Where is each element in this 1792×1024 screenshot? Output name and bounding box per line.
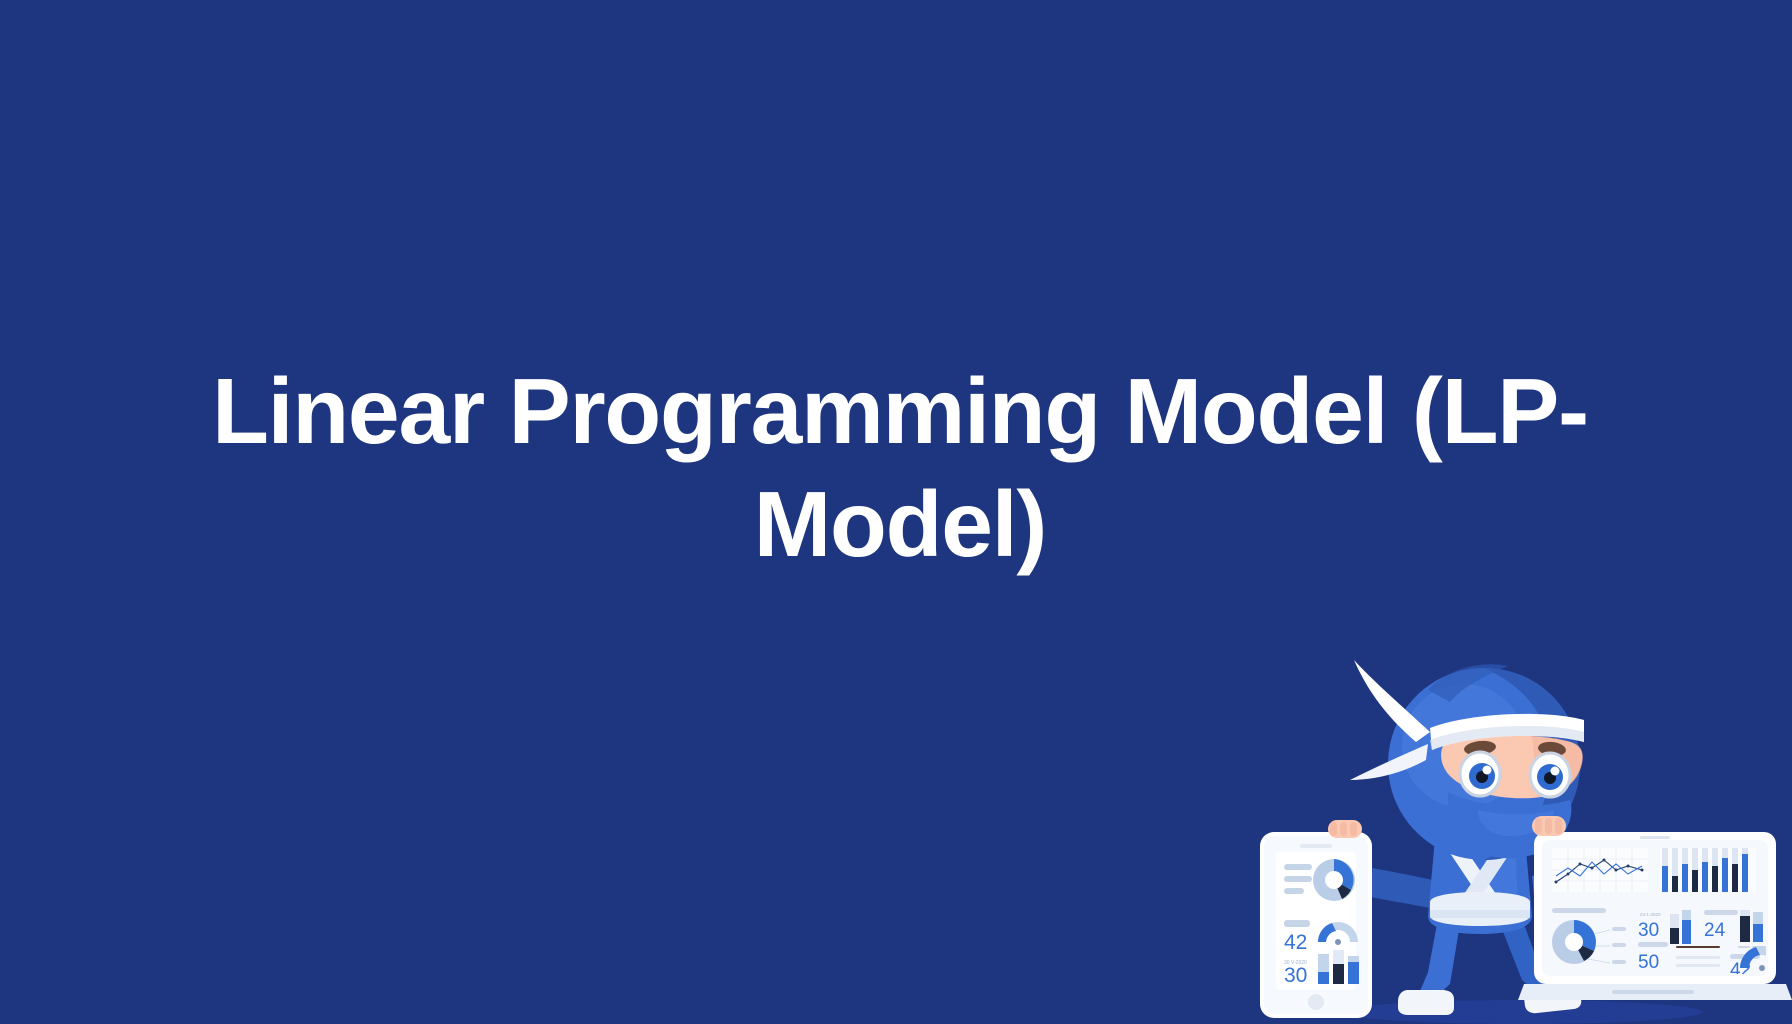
ninja-left-eyebrow bbox=[1463, 739, 1496, 756]
ninja-left-leg bbox=[1418, 924, 1460, 996]
laptop-stat-50: 50 bbox=[1638, 952, 1659, 973]
ninja-right-eye bbox=[1530, 753, 1570, 797]
ninja-right-hand bbox=[1532, 816, 1566, 836]
ninja-torso bbox=[1428, 826, 1532, 934]
title-block: Linear Programming Model (LP-Model) bbox=[120, 355, 1680, 582]
ninja-hood bbox=[1388, 668, 1580, 860]
laptop-stat-caption: 24-1-2020 bbox=[1640, 912, 1661, 917]
ninja-torso-highlight bbox=[1484, 838, 1518, 924]
ninja-left-shoe bbox=[1398, 990, 1454, 1015]
ninja-headband-tail-lower bbox=[1350, 744, 1428, 780]
ninja-left-eye bbox=[1460, 752, 1500, 796]
smartphone-dashboard: 42 30 V-2020 30 bbox=[1260, 820, 1372, 1018]
ninja-right-eyebrow bbox=[1537, 741, 1566, 758]
phone-gauge-chart bbox=[1318, 922, 1358, 945]
phone-caption: 30 V-2020 bbox=[1284, 960, 1307, 966]
ninja-right-shoe bbox=[1524, 984, 1581, 1013]
laptop-stat-24: 24 bbox=[1704, 920, 1726, 941]
phone-bar-chart bbox=[1318, 950, 1359, 984]
ninja-face-shadow bbox=[1532, 736, 1583, 797]
ninja-hood-highlight bbox=[1402, 684, 1526, 808]
ground-shadow bbox=[1342, 1000, 1702, 1024]
laptop-mini-bars-2 bbox=[1738, 910, 1764, 948]
ninja-headband-tail-upper bbox=[1354, 660, 1430, 742]
ninja-belt bbox=[1430, 892, 1530, 926]
ninja-hood-fold bbox=[1428, 664, 1508, 702]
ninja-sash-left bbox=[1440, 832, 1500, 907]
laptop-stat-30: 30 bbox=[1638, 920, 1659, 941]
page-title: Linear Programming Model (LP-Model) bbox=[120, 355, 1680, 582]
ninja-right-arm bbox=[1532, 861, 1641, 907]
ninja-headband bbox=[1430, 714, 1584, 750]
ninja-sash-right bbox=[1460, 832, 1520, 907]
laptop-slider-rows bbox=[1676, 946, 1720, 967]
ninja-left-hand bbox=[1328, 820, 1362, 838]
ninja-face bbox=[1441, 735, 1582, 798]
ninja-mask bbox=[1448, 792, 1571, 858]
ninja-mask-highlight bbox=[1478, 810, 1554, 836]
ninja-illustration: 42 30 V-2020 30 bbox=[1232, 624, 1792, 1024]
ninja-belt-shadow bbox=[1430, 910, 1530, 918]
laptop-stat-42: 42 bbox=[1730, 960, 1751, 981]
laptop-gauge-chart bbox=[1740, 946, 1784, 971]
laptop-line-chart bbox=[1552, 848, 1648, 892]
ninja-hood-shade bbox=[1484, 668, 1580, 860]
phone-donut-chart bbox=[1313, 859, 1355, 901]
slide-canvas: Linear Programming Model (LP-Model) bbox=[0, 0, 1792, 1024]
laptop-mini-bars-1 bbox=[1670, 910, 1691, 944]
laptop-donut-chart bbox=[1552, 920, 1626, 964]
phone-stat-30: 30 bbox=[1284, 964, 1307, 987]
ninja-headband-shade bbox=[1430, 726, 1584, 750]
laptop-bar-chart bbox=[1660, 848, 1756, 892]
laptop-dashboard: 24-1-2020 30 24 bbox=[1518, 816, 1792, 1000]
phone-stat-42: 42 bbox=[1284, 931, 1307, 954]
ninja-left-arm bbox=[1344, 864, 1442, 910]
ninja-right-leg bbox=[1500, 924, 1558, 994]
